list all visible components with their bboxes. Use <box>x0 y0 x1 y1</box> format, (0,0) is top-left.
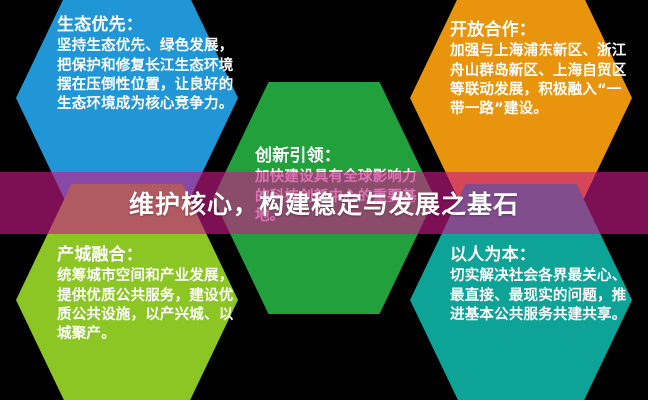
hexagon-text-people-oriented: 以人为本： 切实解决社会各界最关心、最直接、最现实的问题，推进基本公共服务共建共… <box>450 244 630 325</box>
hexagon-body-open-cooperation: 加强与上海浦东新区、浙江舟山群岛新区、上海自贸区等联动发展，积极融入“一带一路”… <box>450 42 630 119</box>
hexagon-body-industry-city-integration: 统筹城市空间和产业发展，提供优质公共服务，建设优质公共设施，以产兴城、以城聚产。 <box>57 267 237 344</box>
hexagon-text-industry-city-integration: 产城融合： 统筹城市空间和产业发展，提供优质公共服务，建设优质公共设施，以产兴城… <box>57 244 237 344</box>
headline-banner: 维护核心，构建稳定与发展之基石 <box>0 172 648 234</box>
hexagon-title-industry-city-integration: 产城融合： <box>57 244 237 266</box>
hexagon-title-eco-priority: 生态优先： <box>57 14 237 36</box>
hexagon-title-people-oriented: 以人为本： <box>450 244 630 266</box>
hexagon-text-eco-priority: 生态优先： 坚持生态优先、绿色发展，把保护和修复长江生态环境摆在压倒性位置，让良… <box>57 14 237 114</box>
infographic-canvas: 生态优先： 坚持生态优先、绿色发展，把保护和修复长江生态环境摆在压倒性位置，让良… <box>0 0 648 400</box>
headline-banner-text: 维护核心，构建稳定与发展之基石 <box>129 185 519 221</box>
hexagon-body-people-oriented: 切实解决社会各界最关心、最直接、最现实的问题，推进基本公共服务共建共享。 <box>450 267 630 324</box>
hexagon-title-open-cooperation: 开放合作： <box>450 19 630 41</box>
hexagon-text-open-cooperation: 开放合作： 加强与上海浦东新区、浙江舟山群岛新区、上海自贸区等联动发展，积极融入… <box>450 19 630 119</box>
hexagon-title-innovation-led: 创新引领： <box>255 145 430 167</box>
hexagon-body-eco-priority: 坚持生态优先、绿色发展，把保护和修复长江生态环境摆在压倒性位置，让良好的生态环境… <box>57 37 237 114</box>
